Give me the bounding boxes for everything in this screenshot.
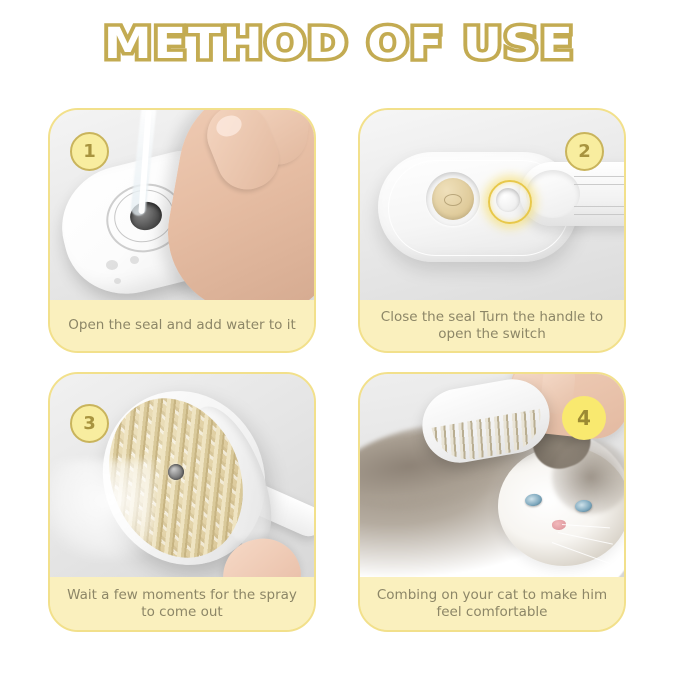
steps-grid: 1 Open the seal and add water to it bbox=[0, 104, 679, 664]
step-3-caption: Wait a few moments for the spray to come… bbox=[50, 577, 314, 630]
title-container: METHOD OF USE bbox=[0, 18, 679, 70]
page-title: METHOD OF USE bbox=[104, 18, 575, 70]
step-number-4: 4 bbox=[577, 406, 591, 430]
spray-nozzle bbox=[168, 464, 184, 480]
step-card-4: 4 Combing on your cat to make him feel c… bbox=[358, 372, 626, 632]
body-detail-dot-1 bbox=[106, 260, 118, 270]
step-number-1: 1 bbox=[83, 141, 96, 162]
handle-seam-4 bbox=[574, 214, 624, 215]
step-badge-1: 1 bbox=[70, 132, 109, 171]
step-card-2: 2 Close the seal Turn the handle to open… bbox=[358, 108, 626, 353]
handle-pivot-knob bbox=[526, 170, 580, 218]
step-2-photo: 2 bbox=[360, 110, 624, 300]
step-1-caption: Open the seal and add water to it bbox=[50, 300, 314, 351]
step-card-3: 3 Wait a few moments for the spray to co… bbox=[48, 372, 316, 632]
handle-seam-1 bbox=[574, 176, 624, 177]
step-4-photo: 4 bbox=[360, 374, 624, 577]
infographic-page: METHOD OF USE bbox=[0, 0, 679, 679]
body-detail-dot-3 bbox=[114, 278, 121, 284]
handle-seam-2 bbox=[574, 184, 624, 185]
power-switch-button bbox=[496, 188, 520, 212]
handle-seam-3 bbox=[574, 206, 624, 207]
step-number-3: 3 bbox=[83, 413, 96, 434]
step-4-caption: Combing on your cat to make him feel com… bbox=[360, 577, 624, 630]
step-badge-2: 2 bbox=[565, 132, 604, 171]
step-badge-4: 4 bbox=[562, 396, 606, 440]
body-detail-dot-2 bbox=[130, 256, 139, 264]
steam-mist bbox=[50, 460, 154, 560]
step-card-1: 1 Open the seal and add water to it bbox=[48, 108, 316, 353]
step-3-photo: 3 bbox=[50, 374, 314, 577]
seal-cap-indent bbox=[444, 194, 462, 206]
step-1-photo: 1 bbox=[50, 110, 314, 300]
step-number-2: 2 bbox=[578, 141, 591, 162]
step-2-caption: Close the seal Turn the handle to open t… bbox=[360, 300, 624, 351]
step-badge-3: 3 bbox=[70, 404, 109, 443]
